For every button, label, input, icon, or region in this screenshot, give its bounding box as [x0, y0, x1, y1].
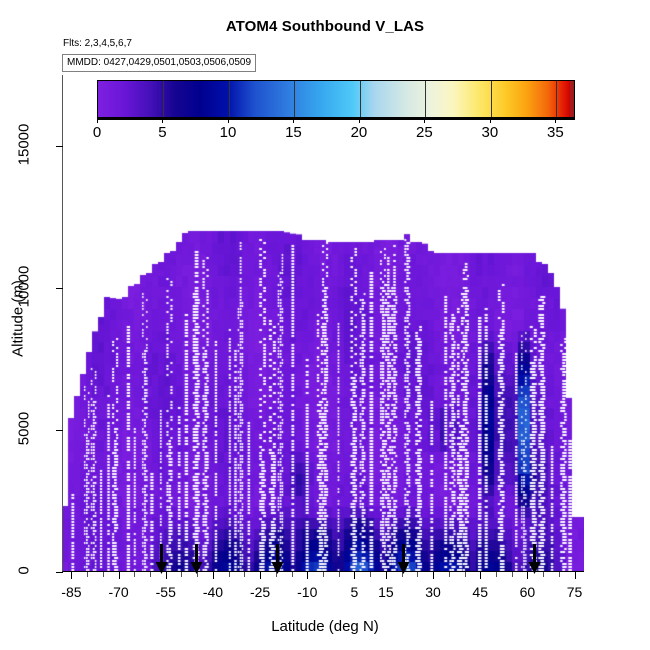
y-axis-tick: [56, 288, 63, 289]
x-axis-tick-minor: [323, 572, 324, 577]
x-axis-tick-minor: [103, 572, 104, 577]
y-axis-title: Altitude (m): [10, 209, 27, 429]
plot-area: -85-70-55-40-25-105153045607505000100001…: [62, 75, 584, 572]
page-title: ATOM4 Southbound V_LAS: [0, 18, 650, 35]
x-axis-tick-label: -70: [108, 584, 128, 600]
x-axis-tick-label: 60: [520, 584, 536, 600]
y-axis-tick-label: 15000: [16, 119, 33, 171]
y-axis-tick-label: 0: [16, 545, 33, 597]
x-axis-tick-label: -40: [203, 584, 223, 600]
y-axis-tick: [56, 572, 63, 573]
x-axis-tick-minor: [87, 572, 88, 577]
x-axis-tick-label: 45: [472, 584, 488, 600]
x-axis-tick-major: [213, 572, 214, 579]
x-axis-tick-minor: [292, 572, 293, 577]
latitude-marker-arrow: [155, 544, 168, 579]
x-axis-tick-major: [386, 572, 387, 579]
x-axis-tick-minor: [370, 572, 371, 577]
x-axis-tick-label: 15: [378, 584, 394, 600]
x-axis-tick-label: 30: [425, 584, 441, 600]
x-axis-tick-major: [433, 572, 434, 579]
latitude-marker-arrow: [190, 544, 203, 579]
y-axis-tick: [56, 146, 63, 147]
x-axis-tick-major: [480, 572, 481, 579]
mmdd-annotation: MMDD: 0427,0429,0501,0503,0506,0509: [62, 54, 256, 72]
x-axis-tick-minor: [244, 572, 245, 577]
x-axis-title: Latitude (deg N): [0, 618, 650, 635]
plot-frame: [62, 75, 584, 572]
x-axis-tick-minor: [150, 572, 151, 577]
x-axis-tick-major: [71, 572, 72, 579]
x-axis-tick-major: [354, 572, 355, 579]
x-axis-tick-label: -25: [250, 584, 270, 600]
latitude-marker-arrow: [397, 544, 410, 579]
latitude-marker-arrow: [528, 544, 541, 579]
x-axis-tick-label: -85: [61, 584, 81, 600]
flights-annotation: Flts: 2,3,4,5,6,7: [63, 38, 132, 49]
x-axis-tick-minor: [465, 572, 466, 577]
x-axis-tick-minor: [134, 572, 135, 577]
x-axis-tick-minor: [229, 572, 230, 577]
x-axis-tick-label: -10: [297, 584, 317, 600]
plot-page: ATOM4 Southbound V_LAS Flts: 2,3,4,5,6,7…: [0, 0, 650, 650]
x-axis-tick-minor: [449, 572, 450, 577]
x-axis-tick-minor: [559, 572, 560, 577]
x-axis-tick-major: [307, 572, 308, 579]
x-axis-tick-label: 5: [351, 584, 359, 600]
x-axis-tick-label: 75: [567, 584, 583, 600]
x-axis-tick-label: -55: [156, 584, 176, 600]
x-axis-tick-minor: [339, 572, 340, 577]
x-axis-tick-minor: [543, 572, 544, 577]
x-axis-tick-minor: [417, 572, 418, 577]
x-axis-tick-major: [260, 572, 261, 579]
y-axis-tick: [56, 430, 63, 431]
x-axis-tick-minor: [512, 572, 513, 577]
x-axis-tick-minor: [181, 572, 182, 577]
latitude-marker-arrow: [271, 544, 284, 579]
x-axis-tick-major: [575, 572, 576, 579]
x-axis-tick-minor: [496, 572, 497, 577]
x-axis-tick-major: [119, 572, 120, 579]
